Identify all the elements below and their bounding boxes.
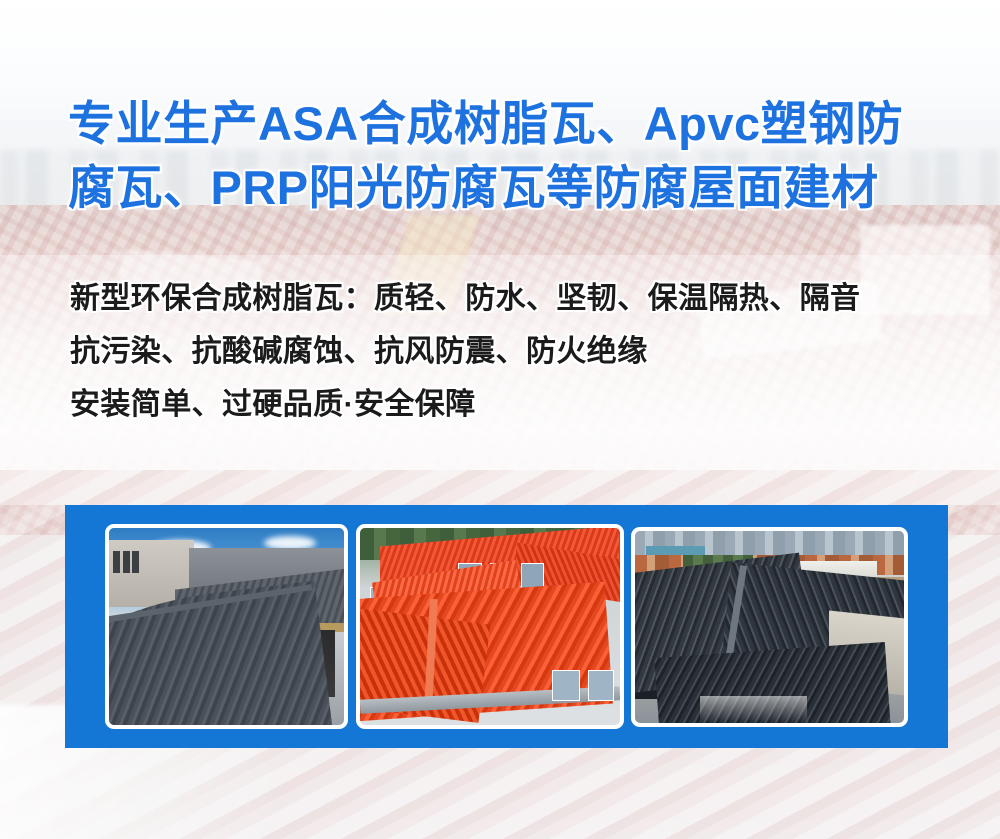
- photo-red-resin-tile-roof[interactable]: [356, 524, 624, 729]
- subcopy-line-3: 安装简单、过硬品质·安全保障: [70, 378, 970, 431]
- banner-headline: 专业生产ASA合成树脂瓦、Apvc塑钢防 腐瓦、PRP阳光防腐瓦等防腐屋面建材: [68, 92, 948, 220]
- window: [113, 551, 120, 573]
- window: [132, 551, 139, 573]
- window: [588, 670, 614, 702]
- photo-frame: [109, 528, 344, 725]
- photo-scene: [635, 531, 904, 723]
- subcopy-line-1: 新型环保合成树脂瓦：质轻、防水、坚韧、保温隔热、隔音: [70, 272, 970, 325]
- photo-grey-resin-tile-roof[interactable]: [105, 524, 348, 729]
- sun-glare: [700, 696, 808, 723]
- photo-frame: [635, 531, 904, 723]
- window: [123, 551, 130, 573]
- photo-black-resin-tile-roof[interactable]: [631, 527, 908, 727]
- photo-scene: [109, 528, 344, 725]
- subcopy-line-2: 抗污染、抗酸碱腐蚀、抗风防震、防火绝缘: [70, 325, 970, 378]
- window: [552, 670, 581, 702]
- photo-frame: [360, 528, 620, 725]
- photo-scene: [360, 528, 620, 725]
- banner-subcopy: 新型环保合成树脂瓦：质轻、防水、坚韧、保温隔热、隔音 抗污染、抗酸碱腐蚀、抗风防…: [70, 272, 970, 431]
- photo-gallery-panel: [65, 505, 948, 748]
- product-banner: 专业生产ASA合成树脂瓦、Apvc塑钢防 腐瓦、PRP阳光防腐瓦等防腐屋面建材 …: [0, 0, 1000, 839]
